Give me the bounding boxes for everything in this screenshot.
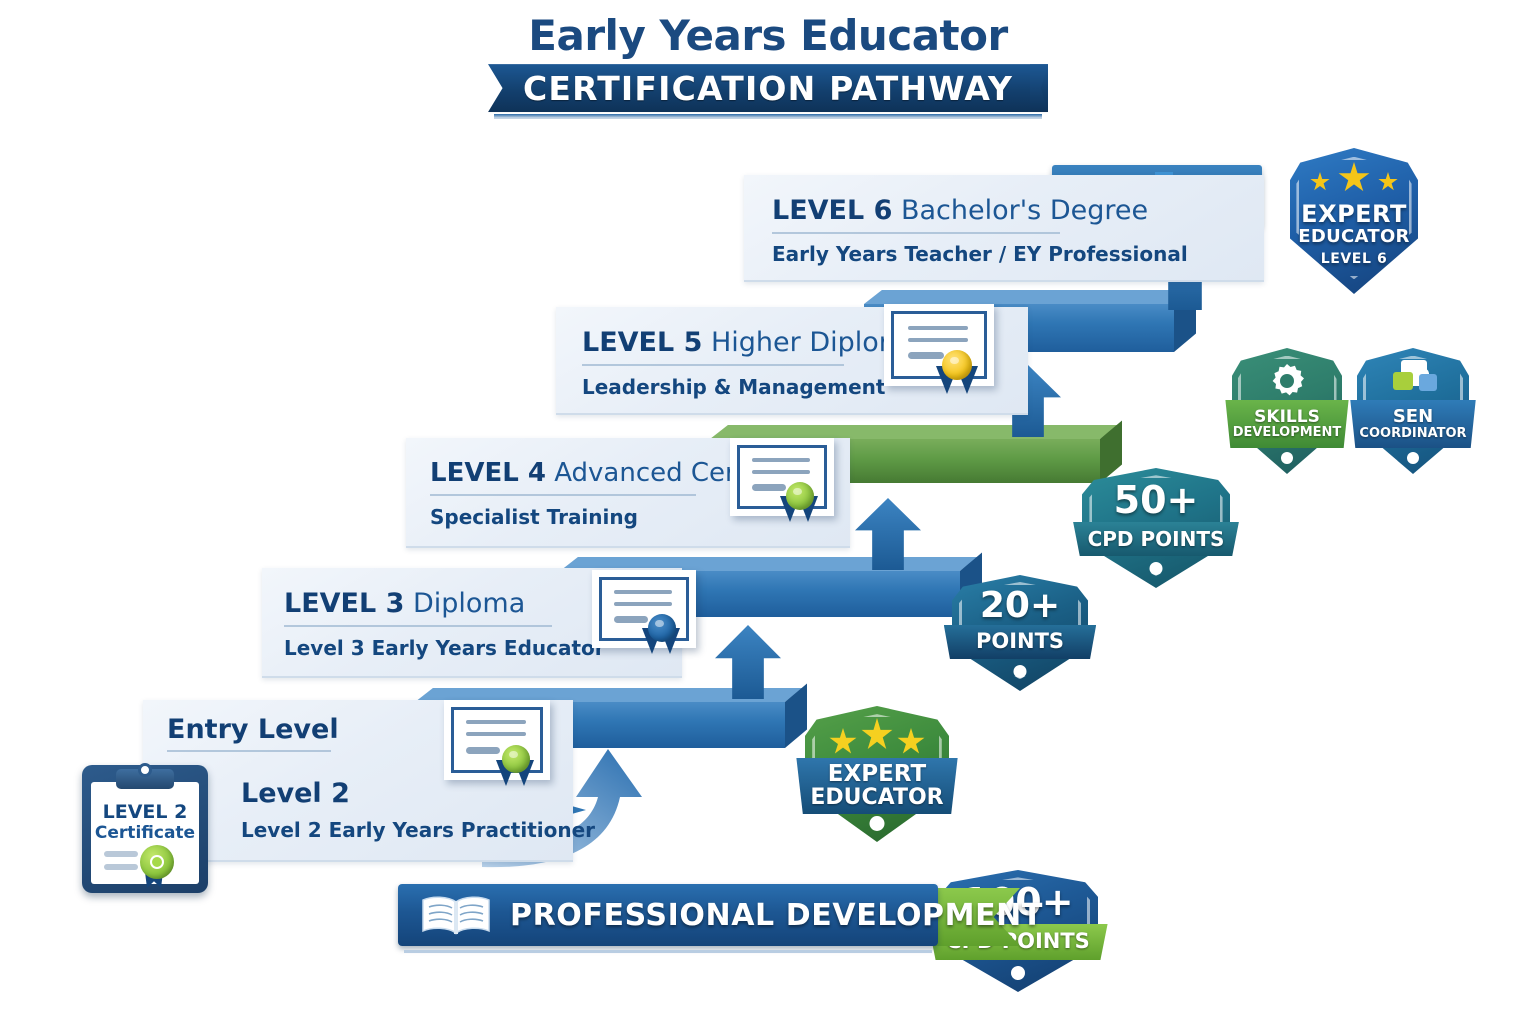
- ribbon-label: CERTIFICATION PATHWAY: [523, 69, 1013, 108]
- badge-sen-subtitle: COORDINATOR: [1359, 427, 1466, 440]
- badge-points-20[interactable]: 20+ POINTS: [952, 575, 1088, 691]
- ribbon-underline: [494, 114, 1042, 119]
- page-title: Early Years Educator: [0, 14, 1536, 58]
- entry-level-label: Entry Level: [167, 714, 339, 745]
- badge-cpd-50-value: 50+: [1082, 478, 1230, 522]
- badge-skills-title: SKILLS: [1233, 409, 1342, 426]
- level-4-level-label: LEVEL 4: [430, 458, 546, 488]
- level-3-qualification: Diploma: [413, 588, 525, 619]
- header: Early Years Educator CERTIFICATION PATHW…: [0, 14, 1536, 116]
- panel-level-6[interactable]: LEVEL 6 Bachelor's Degree Early Years Te…: [744, 175, 1264, 282]
- certificate-icon-entry-level: [444, 700, 550, 780]
- badge-cpd-50[interactable]: 50+ CPD POINTS: [1082, 468, 1230, 588]
- open-book-icon: [420, 893, 492, 937]
- badge-sen-coordinator[interactable]: SEN COORDINATOR: [1357, 348, 1469, 474]
- certificate-icon-level-4: [730, 438, 834, 516]
- clipboard-certificate-icon: LEVEL 2 Certificate: [82, 765, 208, 893]
- level-5-level-label: LEVEL 5: [582, 327, 702, 358]
- footer-bar[interactable]: PROFESSIONAL DEVELOPMENT: [398, 884, 938, 946]
- level-3-level-label: LEVEL 3: [284, 588, 404, 619]
- badge-expert-level6-subtitle: EDUCATOR: [1290, 226, 1418, 247]
- badge-expert-educator-level-6[interactable]: EXPERT EDUCATOR LEVEL 6: [1290, 148, 1418, 294]
- level-4-subtitle: Specialist Training: [430, 505, 638, 529]
- clipboard-line-2: Certificate: [82, 823, 208, 843]
- badge-points-20-value: 20+: [952, 585, 1088, 626]
- badge-expert-educator-green[interactable]: EXPERT EDUCATOR: [805, 706, 949, 842]
- title-ribbon: CERTIFICATION PATHWAY: [488, 64, 1048, 112]
- certificate-icon-level-5: [884, 304, 994, 386]
- badge-expert-green-subtitle: EDUCATOR: [810, 787, 943, 809]
- badge-skills-subtitle: DEVELOPMENT: [1233, 426, 1342, 439]
- level-6-level-label: LEVEL 6: [772, 195, 892, 226]
- level-5-subtitle: Leadership & Management: [582, 375, 885, 399]
- badge-skills-development[interactable]: SKILLS DEVELOPMENT: [1232, 348, 1342, 474]
- entry-level-subtitle: Level 2 Early Years Practitioner: [241, 818, 595, 842]
- level-6-subtitle: Early Years Teacher / EY Professional: [772, 242, 1188, 266]
- clipboard-line-1: LEVEL 2: [82, 801, 208, 823]
- certificate-icon-level-3: [592, 570, 696, 648]
- gear-icon: [1268, 362, 1306, 400]
- entry-level-sub-label: Level 2: [241, 778, 350, 809]
- badge-points-20-label: POINTS: [976, 631, 1064, 652]
- badge-expert-green-title: EXPERT: [810, 763, 943, 786]
- badge-expert-level6-title: EXPERT: [1290, 200, 1418, 228]
- badge-sen-title: SEN: [1359, 408, 1466, 426]
- badge-expert-level6-level: LEVEL 6: [1290, 251, 1418, 267]
- badge-cpd-50-label: CPD POINTS: [1088, 529, 1225, 549]
- puzzle-icon: [1393, 360, 1427, 392]
- level-6-qualification: Bachelor's Degree: [901, 195, 1148, 226]
- footer-label: PROFESSIONAL DEVELOPMENT: [510, 898, 1043, 933]
- level-3-subtitle: Level 3 Early Years Educator: [284, 636, 605, 660]
